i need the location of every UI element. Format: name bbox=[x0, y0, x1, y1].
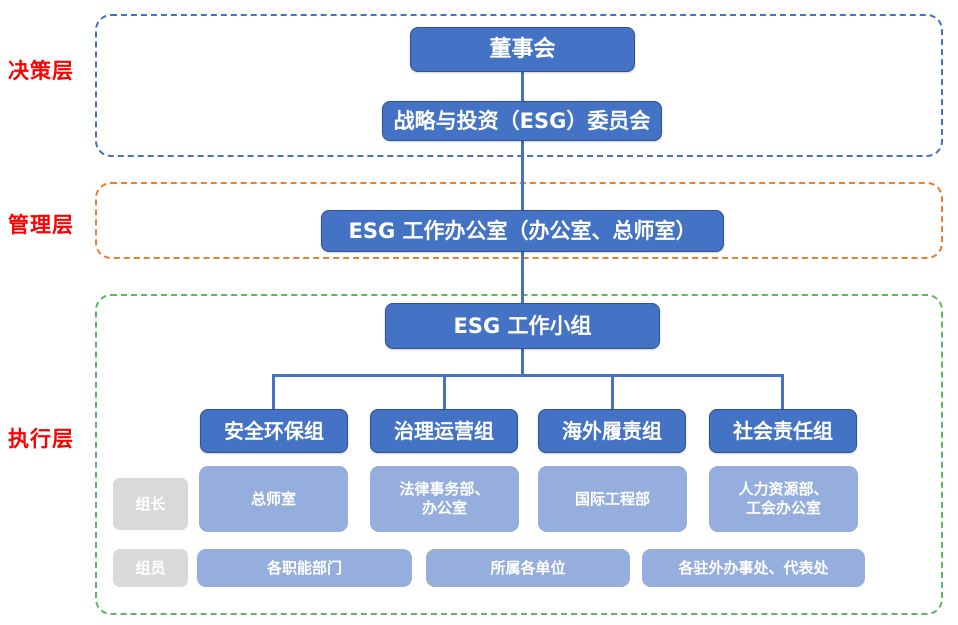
row-tag-member: 组员 bbox=[113, 549, 188, 587]
node-group-governance-operations[interactable]: 治理运营组 bbox=[370, 409, 518, 453]
node-member-functional-departments[interactable]: 各职能部门 bbox=[197, 549, 412, 587]
node-esg-working-office[interactable]: ESG 工作办公室（办公室、总师室） bbox=[321, 210, 724, 252]
node-member-affiliated-units[interactable]: 所属各单位 bbox=[426, 549, 630, 587]
layer-label-manage: 管理层 bbox=[8, 209, 74, 239]
node-leader-safety-environment[interactable]: 总师室 bbox=[199, 466, 348, 532]
connector-board-to-committee bbox=[521, 72, 524, 102]
layer-label-decision: 决策层 bbox=[8, 55, 74, 85]
connector-bus-to-group-4 bbox=[781, 374, 784, 409]
node-group-overseas-responsibility[interactable]: 海外履责组 bbox=[538, 409, 686, 453]
node-leader-governance-operations[interactable]: 法律事务部、 办公室 bbox=[370, 466, 519, 532]
connector-bus-to-group-2 bbox=[443, 374, 446, 409]
node-leader-social-responsibility[interactable]: 人力资源部、 工会办公室 bbox=[709, 466, 858, 532]
connector-bus-to-group-3 bbox=[611, 374, 614, 409]
node-esg-working-team[interactable]: ESG 工作小组 bbox=[385, 303, 660, 349]
node-strategy-investment-esg-committee[interactable]: 战略与投资（ESG）委员会 bbox=[382, 101, 662, 141]
connector-group-bus bbox=[272, 374, 784, 377]
node-member-overseas-offices[interactable]: 各驻外办事处、代表处 bbox=[642, 549, 865, 587]
node-group-safety-environment[interactable]: 安全环保组 bbox=[200, 409, 348, 453]
connector-bus-to-group-1 bbox=[272, 374, 275, 409]
row-tag-leader: 组长 bbox=[113, 478, 188, 530]
connector-office-to-team bbox=[521, 251, 524, 303]
node-group-social-responsibility[interactable]: 社会责任组 bbox=[709, 409, 857, 453]
layer-label-execute: 执行层 bbox=[8, 423, 74, 453]
org-chart-canvas: 决策层 管理层 执行层 董事会 战略与投资（ESG）委员会 ESG 工作办公室（… bbox=[0, 0, 958, 625]
connector-committee-to-office bbox=[521, 140, 524, 218]
connector-team-to-bus bbox=[521, 349, 524, 376]
node-board[interactable]: 董事会 bbox=[410, 27, 635, 72]
node-leader-overseas-responsibility[interactable]: 国际工程部 bbox=[538, 466, 687, 532]
